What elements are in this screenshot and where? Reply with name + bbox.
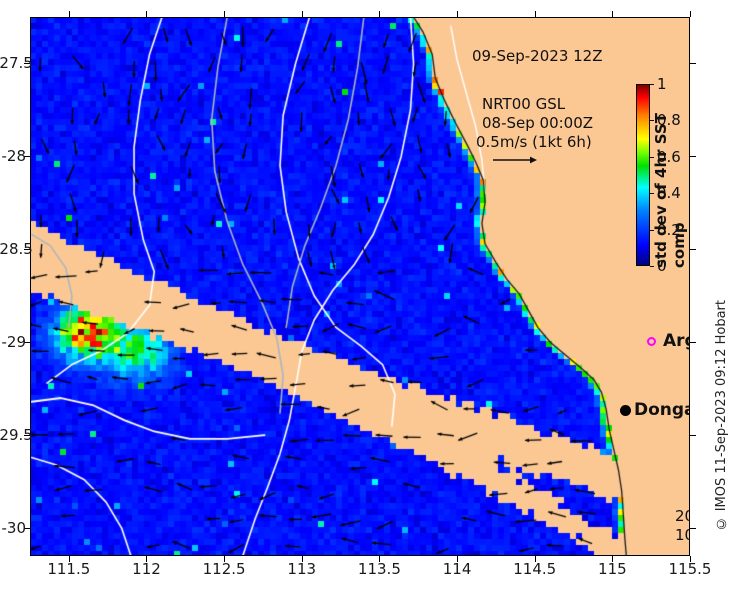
date-stamp-label: 09-Sep-2023 12Z xyxy=(472,47,603,65)
vector-scale-label: 0.5m/s (1kt 6h) xyxy=(476,133,592,151)
x-axis-tick-top xyxy=(302,11,303,17)
x-axis-tick-top xyxy=(612,11,613,17)
y-axis-tick-label: -28.5 xyxy=(0,240,26,258)
colorbar-tick xyxy=(650,193,654,194)
y-axis-tick-right xyxy=(690,63,696,64)
dongara-city-marker[interactable] xyxy=(620,405,631,416)
y-axis-tick-label: -29.5 xyxy=(0,426,26,444)
x-axis-tick-label: 114.5 xyxy=(513,560,556,578)
argo-float-marker[interactable] xyxy=(647,337,656,346)
colorbar-tick-label: 0.2 xyxy=(657,221,681,239)
y-axis-tick-label: -30 xyxy=(0,519,26,537)
x-axis-tick-label: 111.5 xyxy=(47,560,90,578)
colorbar-tick-label: 0.8 xyxy=(657,111,681,129)
colorbar-tick-label: 1 xyxy=(657,75,667,93)
x-axis-tick-top xyxy=(457,11,458,17)
credit-label: © IMOS 11-Sep-2023 09:12 Hobart xyxy=(714,300,734,530)
y-axis-tick-label: -27.5 xyxy=(0,54,26,72)
y-axis-tick-label: -28 xyxy=(0,147,26,165)
y-axis-tick-right xyxy=(690,156,696,157)
colorbar-gradient xyxy=(636,84,650,266)
x-axis-tick-top xyxy=(224,11,225,17)
colorbar-tick-label: 0 xyxy=(657,257,667,275)
x-axis-tick-label: 113.5 xyxy=(358,560,401,578)
y-axis-tick-right xyxy=(690,435,696,436)
argo-label: Argo xyxy=(663,331,690,351)
depth-legend-1000m: 1000m xyxy=(675,526,690,545)
x-axis-tick-label: 113 xyxy=(287,560,316,578)
figure-canvas: 09-Sep-2023 12Z NRT00 GSL 08-Sep 00:00Z … xyxy=(0,0,740,592)
model-time-label: 08-Sep 00:00Z xyxy=(482,114,593,132)
x-axis-tick-top xyxy=(690,11,691,17)
y-axis-tick-right xyxy=(690,249,696,250)
x-axis-tick-label: 114 xyxy=(443,560,472,578)
dongara-label: Dongara xyxy=(634,400,690,420)
x-axis-tick-top xyxy=(535,11,536,17)
map-plot-area[interactable]: 09-Sep-2023 12Z NRT00 GSL 08-Sep 00:00Z … xyxy=(30,17,690,556)
x-axis-tick-label: 115 xyxy=(598,560,627,578)
colorbar-tick xyxy=(650,230,654,231)
depth-contour-legend: 200m 1000m xyxy=(675,507,690,549)
x-axis-tick-label: 112.5 xyxy=(203,560,246,578)
x-axis-tick-top xyxy=(379,11,380,17)
colorbar-tick xyxy=(650,157,654,158)
x-axis-tick-top xyxy=(69,11,70,17)
colorbar-tick xyxy=(650,84,654,85)
y-axis-tick-label: -29 xyxy=(0,333,26,351)
model-name-label: NRT00 GSL xyxy=(482,95,565,113)
x-axis-tick-top xyxy=(146,11,147,17)
x-axis-tick-label: 112 xyxy=(132,560,161,578)
colorbar-tick xyxy=(650,266,654,267)
vector-reference-arrow-icon xyxy=(492,155,538,165)
depth-legend-200m: 200m xyxy=(675,507,690,526)
coastline-overlay xyxy=(30,17,690,556)
colorbar-tick xyxy=(650,120,654,121)
x-axis-tick-label: 115.5 xyxy=(669,560,712,578)
colorbar-tick-label: 0.4 xyxy=(657,184,681,202)
y-axis-tick-right xyxy=(690,528,696,529)
colorbar-tick-label: 0.6 xyxy=(657,148,681,166)
y-axis-tick-right xyxy=(690,342,696,343)
